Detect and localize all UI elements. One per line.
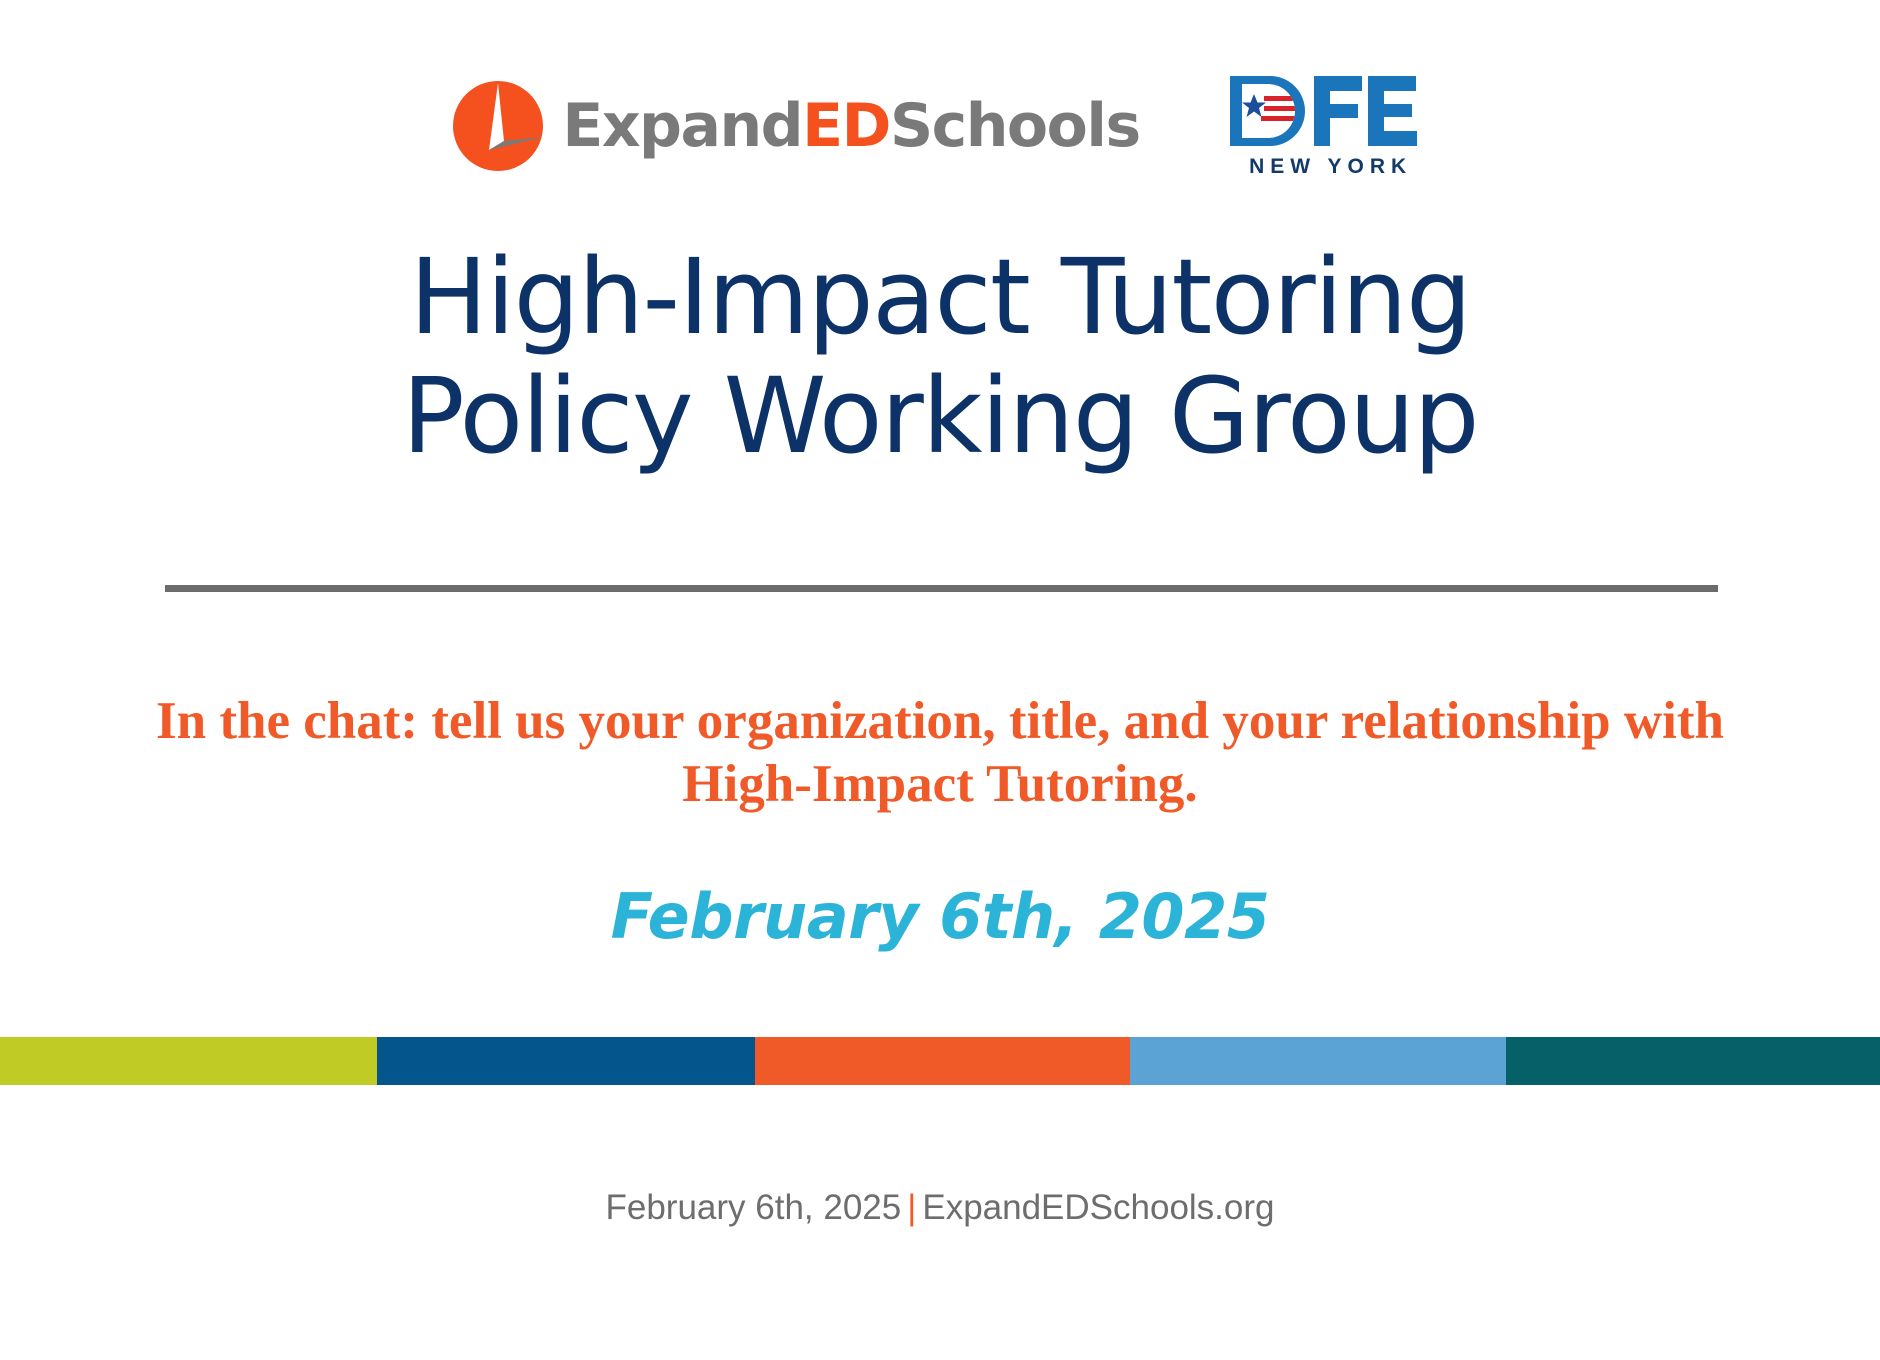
title-line-2: Policy Working Group bbox=[0, 357, 1880, 476]
expanded-schools-logo: ExpandEDSchools bbox=[452, 80, 1139, 172]
logo-row: ExpandEDSchools bbox=[0, 68, 1880, 183]
chat-prompt-text: In the chat: tell us your organization, … bbox=[90, 690, 1790, 815]
wordmark-ed: ED bbox=[802, 91, 890, 161]
footer-separator: | bbox=[901, 1188, 922, 1227]
wordmark-schools: Schools bbox=[890, 91, 1140, 161]
footer: February 6th, 2025|ExpandEDSchools.org bbox=[0, 1188, 1880, 1228]
footer-date: February 6th, 2025 bbox=[606, 1188, 902, 1227]
dfer-logo: NEW YORK bbox=[1228, 72, 1428, 179]
footer-website: ExpandEDSchools.org bbox=[922, 1188, 1274, 1227]
wordmark-expand: Expand bbox=[562, 91, 802, 161]
band-segment-teal bbox=[1506, 1037, 1880, 1085]
page-title: High-Impact Tutoring Policy Working Grou… bbox=[0, 238, 1880, 475]
date-headline: February 6th, 2025 bbox=[0, 880, 1880, 953]
band-segment-dark-blue bbox=[377, 1037, 755, 1085]
expanded-schools-wordmark: ExpandEDSchools bbox=[562, 96, 1139, 156]
dfer-new-york-label: NEW YORK bbox=[1243, 155, 1412, 179]
dfer-wordmark-icon bbox=[1228, 74, 1428, 148]
expanded-schools-pinwheel-icon bbox=[452, 80, 544, 172]
slide-canvas: ExpandEDSchools bbox=[0, 0, 1880, 1360]
band-segment-lime bbox=[0, 1037, 377, 1085]
title-divider-rule bbox=[165, 585, 1718, 592]
title-line-1: High-Impact Tutoring bbox=[0, 238, 1880, 357]
brand-color-band bbox=[0, 1037, 1880, 1085]
band-segment-light-blue bbox=[1130, 1037, 1506, 1085]
band-segment-orange bbox=[755, 1037, 1130, 1085]
